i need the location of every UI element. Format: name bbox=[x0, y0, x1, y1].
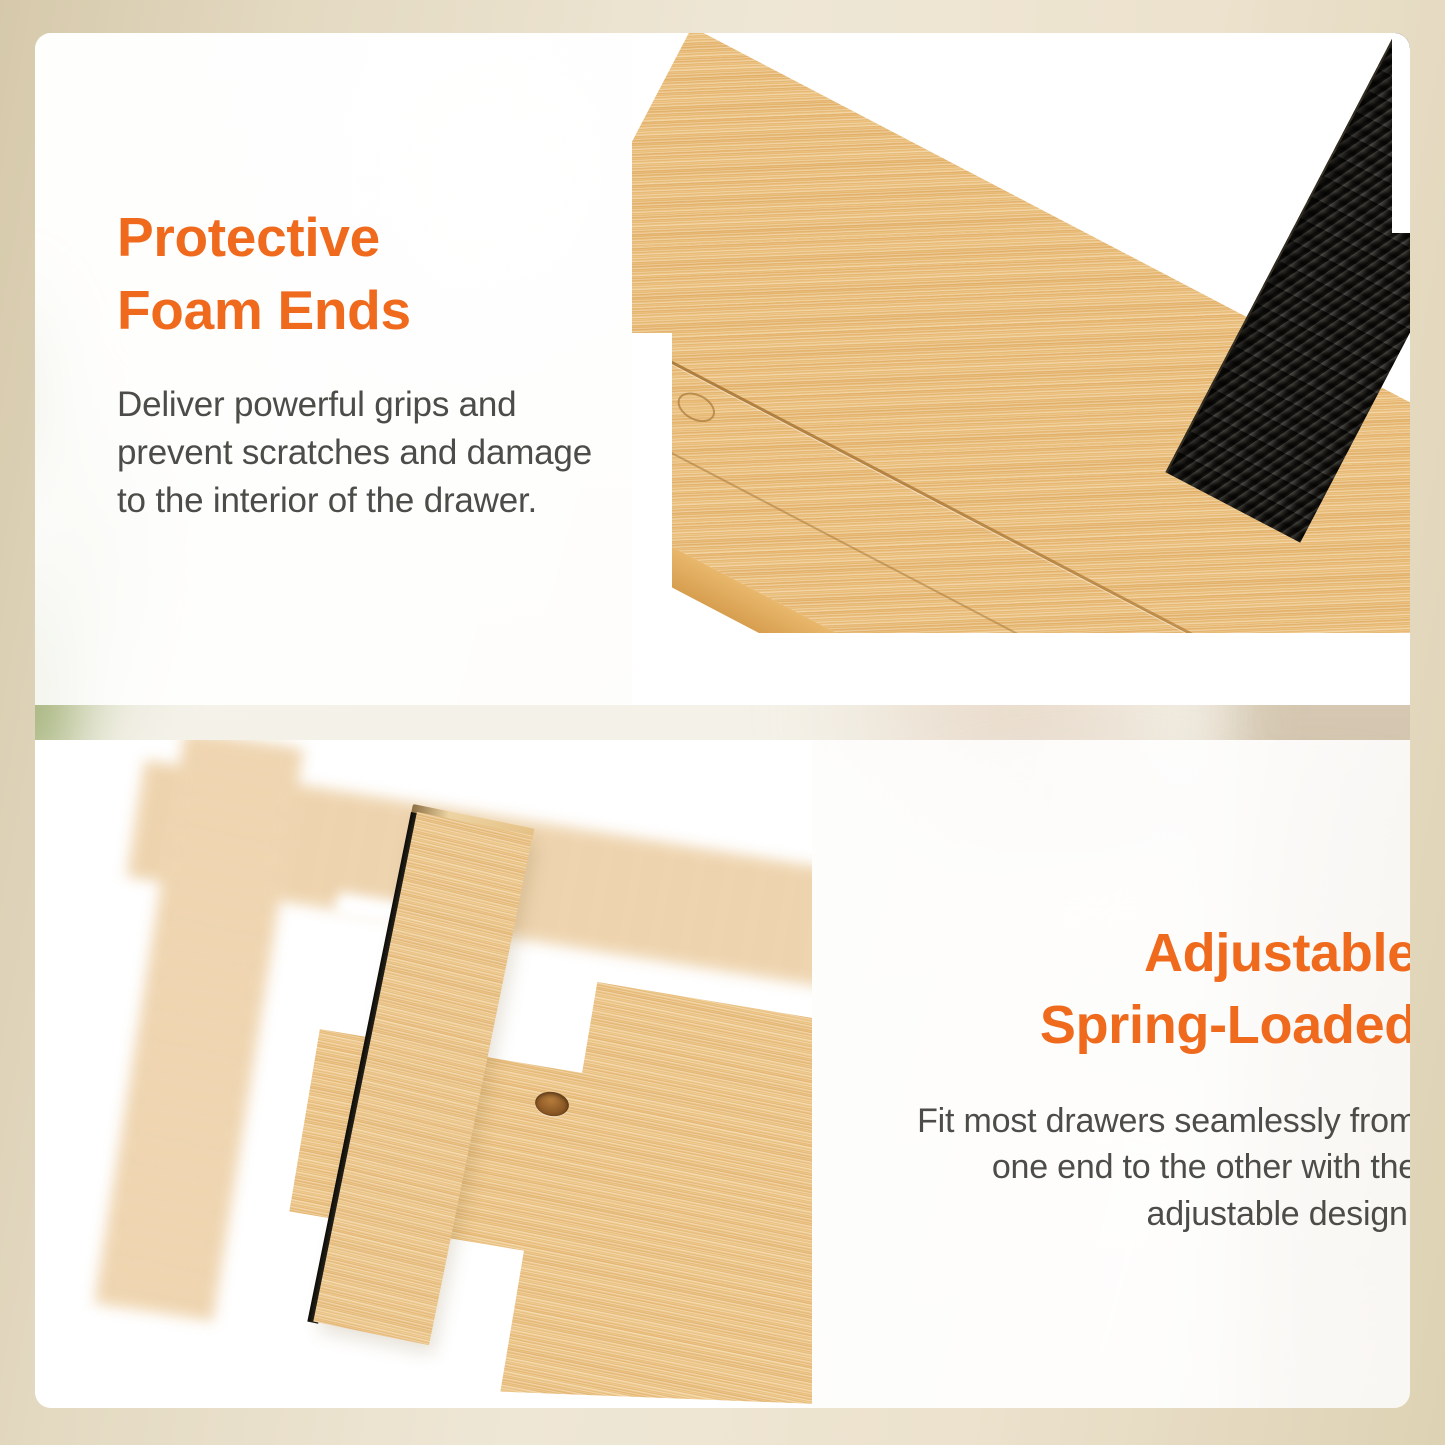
background-blurred-hole bbox=[293, 937, 341, 972]
photo-mask-bottom bbox=[632, 633, 1410, 705]
photo-mask-left bbox=[632, 333, 672, 705]
photo-adjustable-spring-loaded bbox=[35, 740, 812, 1408]
photo-mask-right bbox=[1392, 33, 1410, 233]
feature-headline-foam-line2: Foam Ends bbox=[117, 274, 617, 347]
feature-headline-spring: Adjustable Spring-Loaded bbox=[877, 918, 1410, 1062]
divider-pin-hole bbox=[673, 386, 720, 428]
feature-block-protective-foam-ends: Protective Foam Ends Deliver powerful gr… bbox=[117, 201, 617, 525]
feature-headline-foam: Protective Foam Ends bbox=[117, 201, 617, 347]
feature-headline-foam-line1: Protective bbox=[117, 201, 617, 274]
feature-block-adjustable-spring-loaded: Adjustable Spring-Loaded Fit most drawer… bbox=[877, 918, 1410, 1237]
feature-body-foam: Deliver powerful grips and prevent scrat… bbox=[117, 381, 617, 525]
background-blurred-cross-arm bbox=[94, 740, 303, 1322]
content-area: Protective Foam Ends Deliver powerful gr… bbox=[35, 33, 1410, 1408]
photo-protective-foam-ends bbox=[632, 33, 1410, 705]
feature-body-spring: Fit most drawers seamlessly from one end… bbox=[877, 1098, 1410, 1238]
product-feature-infographic: Protective Foam Ends Deliver powerful gr… bbox=[0, 0, 1445, 1445]
feature-headline-spring-line2: Spring-Loaded bbox=[877, 990, 1410, 1062]
feature-headline-spring-line1: Adjustable bbox=[877, 918, 1410, 990]
foam-end-product-render bbox=[632, 33, 1410, 705]
